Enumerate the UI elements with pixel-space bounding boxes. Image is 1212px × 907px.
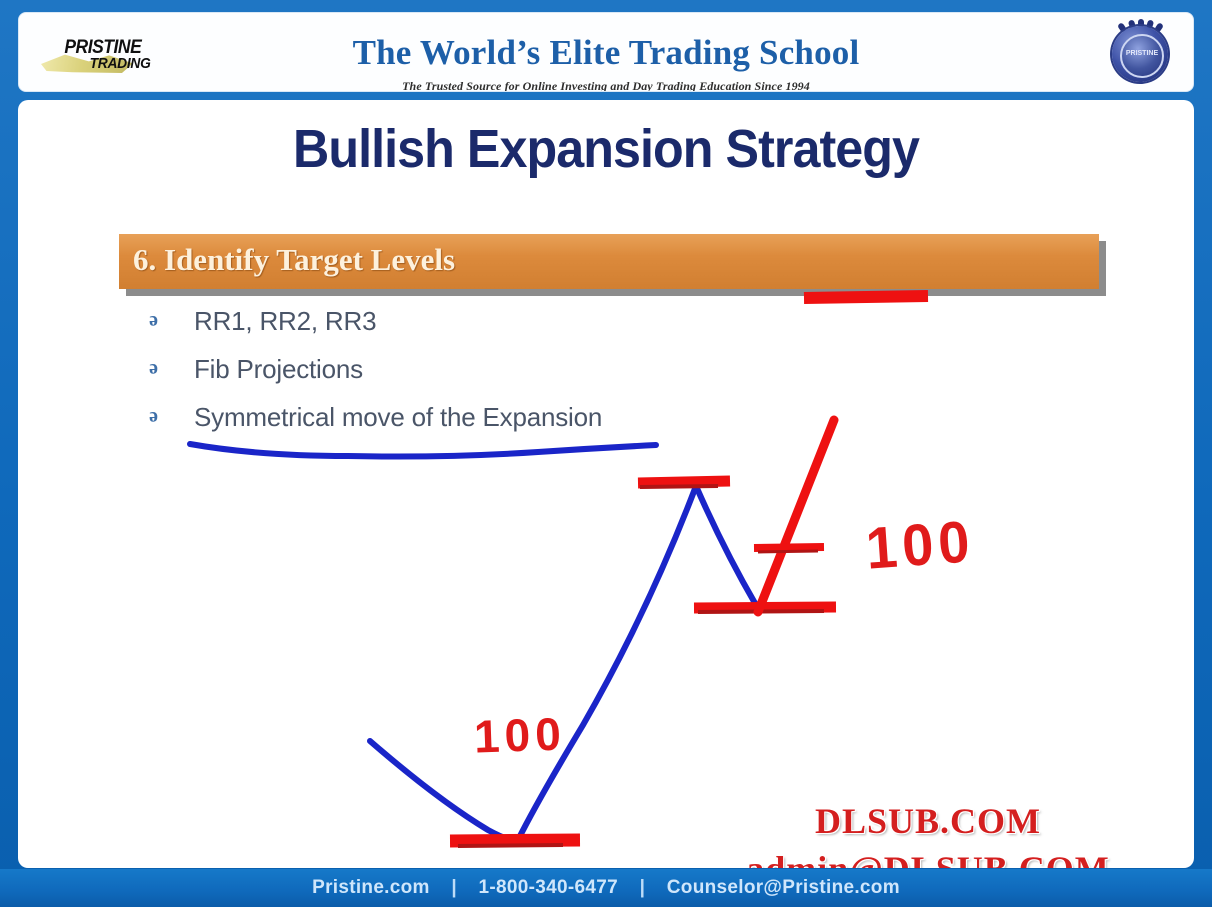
header-subtitle: The Trusted Source for Online Investing … <box>19 79 1193 92</box>
seal-inner-disc: PRISTINE <box>1120 34 1164 78</box>
red-level-swing-low-shadow <box>458 845 563 846</box>
red-level-swing-low <box>450 840 580 841</box>
red-target-tick-shadow <box>758 551 818 552</box>
footer-separator: | <box>435 877 473 899</box>
red-level-pullback-low <box>694 607 836 608</box>
watermark-email: admin@DLSUB.COM <box>678 848 1178 868</box>
blue-underline-stroke <box>190 444 656 457</box>
red-level-peak <box>638 481 730 483</box>
watermark: DLSUB.COM admin@DLSUB.COM <box>678 800 1178 868</box>
ink-annotation-layer <box>18 100 1194 868</box>
slide-body: Bullish Expansion Strategy 6. Identify T… <box>18 100 1194 868</box>
footer-separator: | <box>624 877 662 899</box>
watermark-site: DLSUB.COM <box>678 800 1178 842</box>
footer-contact: Pristine.com | 1-800-340-6477 | Counselo… <box>0 877 1212 899</box>
header-title: The World’s Elite Trading School <box>19 33 1193 73</box>
blue-pullback-leg-stroke <box>696 486 756 605</box>
header-panel: PRISTINE TRADING The World’s Elite Tradi… <box>18 12 1194 92</box>
footer-email[interactable]: Counselor@Pristine.com <box>667 877 900 898</box>
handwritten-label-upper-right: 100 <box>864 507 977 583</box>
footer-bar: Pristine.com | 1-800-340-6477 | Counselo… <box>0 869 1212 907</box>
footer-phone[interactable]: 1-800-340-6477 <box>479 877 618 898</box>
slide-frame: PRISTINE TRADING The World’s Elite Tradi… <box>0 0 1212 907</box>
red-banner-strike <box>804 296 928 298</box>
footer-website[interactable]: Pristine.com <box>312 877 430 898</box>
red-level-peak-shadow <box>640 486 718 487</box>
pristine-seal-icon: PRISTINE <box>1109 23 1171 85</box>
blue-expansion-leg-stroke <box>518 486 696 840</box>
handwritten-label-lower-left: 100 <box>473 706 567 763</box>
seal-label: PRISTINE <box>1122 50 1162 58</box>
red-projection-arrow <box>758 420 834 612</box>
red-target-tick <box>754 547 824 548</box>
